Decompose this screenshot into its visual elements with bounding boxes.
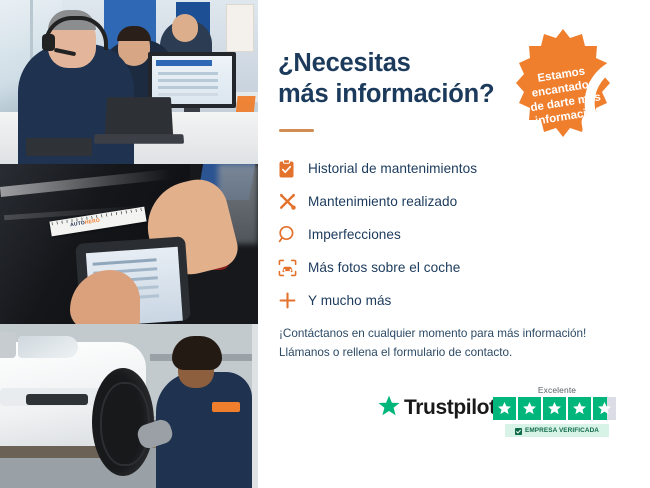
contact-paragraph: ¡Contáctanos en cualquier momento para m… [279, 325, 639, 363]
trustpilot-rating-label: Excelente [493, 385, 621, 395]
page-title: ¿Necesitas más información? [278, 48, 528, 110]
feature-item-historial[interactable]: Historial de mantenimientos [278, 152, 568, 185]
contact-paragraph-line1: ¡Contáctanos en cualquier momento para m… [279, 325, 639, 344]
promo-card: AUTOHERO [0, 0, 650, 488]
contact-paragraph-line2: Llámanos o rellena el formulario de cont… [279, 344, 639, 363]
trustpilot-logo: Trustpilot [378, 395, 496, 421]
feature-item-mantenimiento[interactable]: Mantenimiento realizado [278, 185, 568, 218]
star-5-partial [593, 397, 616, 420]
trustpilot-widget[interactable]: Trustpilot Excelente [378, 385, 623, 447]
call-center-agents-photo [0, 0, 258, 164]
car-inspection-photo: AUTOHERO [0, 164, 258, 324]
photo1-wall-paper [226, 4, 254, 52]
feature-label: Imperfecciones [308, 227, 401, 242]
feature-item-mucho-mas[interactable]: Y mucho más [278, 284, 568, 317]
feature-item-fotos[interactable]: Más fotos sobre el coche [278, 251, 568, 284]
photo1-keyboard [26, 138, 92, 156]
verified-company-label: EMPRESA VERIFICADA [525, 427, 599, 434]
star-4 [568, 397, 591, 420]
photo3-headlight [18, 336, 78, 358]
feature-label: Historial de mantenimientos [308, 161, 477, 176]
star-1 [493, 397, 516, 420]
check-square-icon [515, 422, 522, 440]
feature-label: Y mucho más [308, 293, 391, 308]
plus-icon [278, 290, 308, 312]
photo3-sleeve-logo [212, 402, 240, 412]
photo3-wheel [92, 368, 154, 476]
photo-column: AUTOHERO [0, 0, 258, 488]
feature-item-imperfecciones[interactable]: Imperfecciones [278, 218, 568, 251]
feature-label: Más fotos sobre el coche [308, 260, 460, 275]
title-underline-rule [279, 129, 314, 132]
promo-badge-text: Estamos encantados de darte más informac… [495, 18, 630, 153]
photo3-mechanic-hair [172, 336, 222, 370]
verified-company-badge: EMPRESA VERIFICADA [505, 424, 609, 437]
trustpilot-stars [493, 397, 621, 420]
photo1-headset-earcup [42, 34, 55, 51]
trustpilot-brand-name: Trustpilot [404, 396, 496, 420]
page-title-line1: ¿Necesitas [278, 48, 528, 79]
content-panel: ¿Necesitas más información? Estamos enca… [258, 0, 650, 488]
magnifier-icon [278, 224, 308, 246]
page-title-line2: más información? [278, 79, 528, 110]
photo3-air-intake [26, 394, 88, 405]
promo-badge: Estamos encantados de darte más informac… [504, 27, 622, 145]
trustpilot-rating: Excelente [493, 385, 621, 437]
wheel-inspection-photo [0, 324, 258, 488]
star-3 [543, 397, 566, 420]
car-photo-frame-icon [278, 257, 308, 279]
photo2-ruler-brand: AUTOHERO [70, 218, 101, 229]
star-2 [518, 397, 541, 420]
clipboard-check-icon [278, 158, 308, 180]
tools-cross-icon [278, 191, 308, 213]
photo3-grille [0, 332, 16, 358]
photo1-laptop [105, 97, 173, 136]
feature-label: Mantenimiento realizado [308, 194, 457, 209]
trustpilot-star-icon [378, 395, 400, 421]
photo1-person-back-head [172, 14, 198, 42]
feature-list: Historial de mantenimientos Mantenimient… [278, 152, 568, 317]
